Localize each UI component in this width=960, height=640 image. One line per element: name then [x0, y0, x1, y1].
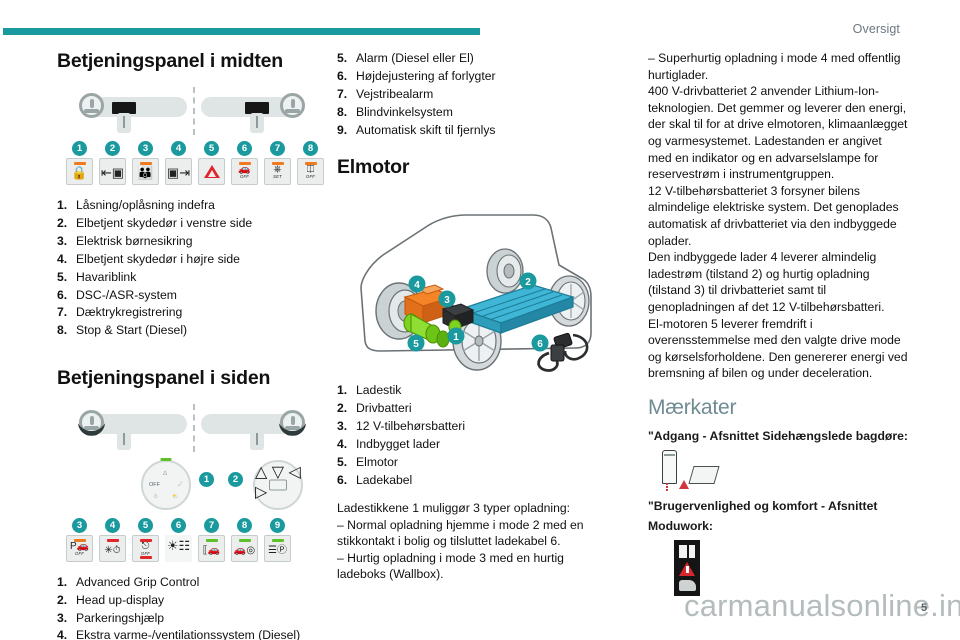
paragraph-line: reservestrøm i instrumentgruppen.: [648, 166, 938, 183]
callout-3: 3: [138, 141, 153, 156]
callout-5: 5: [138, 518, 153, 533]
svg-text:6: 6: [537, 339, 543, 350]
button-row: 🔒 ⇤▣ 👪 ▣⇥ 🚗OFF ⎈SET: [63, 158, 327, 185]
side-panel-knob-row: △ OFF ☄ ☃ ⛅ 1 2 △ ▽ ◁ ▷: [63, 458, 327, 514]
paragraph-line: ladestrøm (tilstand 2) og hurtig opladni…: [648, 266, 938, 283]
list-item-text: DSC-/ASR-system: [76, 287, 327, 303]
list-item-text: Head up-display: [76, 592, 327, 608]
list-item: 5.Havariblink: [57, 269, 327, 285]
paragraph-line: 12 V-tilbehørsbatteriet 3 forsyner bilen…: [648, 183, 938, 200]
blind-spot-button[interactable]: 🚗◎: [231, 535, 258, 562]
callout-4: 4: [105, 518, 120, 533]
list-item-text: 12 V-tilbehørsbatteri: [356, 418, 607, 434]
led-indicator: [161, 458, 172, 461]
list-item: 2.Drivbatteri: [337, 400, 607, 416]
section-heading-side-panel: Betjeningspanel i siden: [57, 367, 327, 390]
dashboard-rhd: [201, 410, 311, 444]
elmotor-legend-list: 1.Ladestik 2.Drivbatteri 3.12 V-tilbehør…: [337, 382, 607, 488]
sticker-caption-moduwork-line1: "Brugervenlighed og komfort - Afsnittet: [648, 498, 938, 514]
paragraph-line: oplader.: [648, 233, 938, 250]
list-item-number: 2.: [57, 215, 76, 231]
led-indicator: [305, 162, 317, 165]
gas-strut-sticker-icon: [662, 450, 677, 484]
paragraph-line: Den indbyggede lader 4 leverer almindeli…: [648, 249, 938, 266]
list-item-text: Indbygget lader: [356, 436, 607, 452]
left-column: Betjeningspanel i midten 1 2 3: [57, 50, 327, 640]
list-item-text: Blindvinkelsystem: [356, 104, 607, 120]
list-item: 3.Elektrisk børnesikring: [57, 233, 327, 249]
sticker-group-access: [662, 450, 938, 484]
dsc-asr-off-icon: 🚗OFF: [238, 165, 250, 179]
list-item: 4.Ekstra varme-/ventilationssystem (Dies…: [57, 627, 327, 640]
lane-alert-icon: ⟦🚗: [203, 546, 220, 556]
callout-4: 4: [171, 141, 186, 156]
led-indicator: [272, 162, 284, 165]
right-sliding-door-icon: ▣⇥: [167, 166, 190, 179]
stop-start-button[interactable]: ⎅OFF: [297, 158, 324, 185]
list-item: 4.Elbetjent skydedør i højre side: [57, 251, 327, 267]
warning-triangle-icon: [679, 480, 689, 489]
paragraph-line: automatisk af drivbatteriet via den indb…: [648, 216, 938, 233]
paragraph-line: og varmesystemet. Ladestanden er angivet: [648, 133, 938, 150]
list-item: 3.Parkeringshjælp: [57, 610, 327, 626]
paragraph-line: genopladningen af det 12 V-tilbehørsbatt…: [648, 299, 938, 316]
callout-row: 1 2 3 4 5 6 7 8: [63, 141, 327, 156]
dashboard-lhd: [77, 410, 187, 444]
side-panel-button-strip: 3 4 5 6 7 8 9 P🚗OFF ✳⏱ ⎋OFF: [63, 518, 327, 562]
list-item: 8.Stop & Start (Diesel): [57, 322, 327, 338]
list-item-number: 8.: [337, 104, 356, 120]
paragraph-line: overensstemmelse med den valgte drive mo…: [648, 332, 938, 349]
paragraph-line: bremsning af bilen og under deceleration…: [648, 365, 938, 382]
list-item-number: 6.: [337, 472, 356, 488]
paragraph-line: ladeboks (Wallbox).: [337, 566, 607, 583]
auxiliary-heating-timer-icon: ✳⏱: [104, 546, 120, 556]
list-item: 7.Dæktrykregistrering: [57, 304, 327, 320]
list-item-text: Vejstribealarm: [356, 86, 607, 102]
auxiliary-heating-button[interactable]: ✳⏱: [99, 535, 126, 562]
paragraph-line: stikkontakt i bolig og tilsluttet ladeka…: [337, 533, 607, 550]
paragraph-line: – Normal opladning hjemme i mode 2 med e…: [337, 517, 607, 534]
list-item: 8.Blindvinkelsystem: [337, 104, 607, 120]
hazard-warning-button[interactable]: [198, 158, 225, 185]
list-item: 6.Højdejustering af forlygter: [337, 68, 607, 84]
list-item-text: Elektrisk børnesikring: [76, 233, 327, 249]
header-rule: [3, 28, 480, 35]
svg-text:1: 1: [453, 332, 459, 343]
svg-text:4: 4: [414, 280, 420, 291]
list-item-number: 7.: [337, 86, 356, 102]
list-item-number: 2.: [57, 592, 76, 608]
paragraph-line: og kørselsforholdene. Den genererer ener…: [648, 349, 938, 366]
list-item-text: Advanced Grip Control: [76, 574, 327, 590]
list-item-text: Ekstra varme-/ventilationssystem (Diesel…: [76, 627, 327, 640]
sticker-caption-moduwork-line2: Moduwork:: [648, 518, 938, 534]
list-item-text: Låsning/oplåsning indefra: [76, 197, 327, 213]
callout-7: 7: [270, 141, 285, 156]
list-item-text: Alarm (Diesel eller El): [356, 50, 607, 66]
dimmer-wheel[interactable]: ☀☷: [165, 535, 192, 562]
list-item: 9.Automatisk skift til fjernlys: [337, 122, 607, 138]
dashboard-lhd: [77, 93, 187, 127]
list-item-number: 8.: [57, 322, 76, 338]
battery-description-paragraph: – Superhurtig opladning i mode 4 med off…: [648, 50, 938, 382]
list-item-text: Elbetjent skydedør i højre side: [76, 251, 327, 267]
list-item: 1.Låsning/oplåsning indefra: [57, 197, 327, 213]
list-item-number: 2.: [337, 400, 356, 416]
hazard-warning-icon: [204, 165, 220, 178]
paragraph-line: (tilstand 3) til drivbatteriet samt til: [648, 282, 938, 299]
side-console-icon: [117, 430, 131, 450]
ev-powertrain-illustration: 1 2 3 4 5 6: [337, 193, 605, 378]
list-item-number: 3.: [337, 418, 356, 434]
list-item-text: Højdejustering af forlygter: [356, 68, 607, 84]
callout-3: 3: [72, 518, 87, 533]
list-item-number: 5.: [337, 50, 356, 66]
left-sliding-door-icon: ⇤▣: [101, 166, 124, 179]
stop-start-off-icon: ⎅OFF: [306, 165, 315, 179]
center-console-icon: [117, 113, 131, 133]
svg-text:3: 3: [444, 295, 450, 306]
list-item-number: 4.: [57, 627, 76, 640]
list-item-number: 5.: [337, 454, 356, 470]
dashboard-illustration-side: [69, 404, 319, 452]
list-item-number: 1.: [57, 197, 76, 213]
list-item-number: 6.: [57, 287, 76, 303]
callout-8: 8: [237, 518, 252, 533]
list-item: 6.DSC-/ASR-system: [57, 287, 327, 303]
paragraph-line: teknologien. Det gemmer og leverer den e…: [648, 100, 938, 117]
park-assist-icon: P🚗OFF: [70, 542, 89, 556]
tyre-pressure-set-icon: ⎈SET: [273, 165, 282, 179]
lock-button[interactable]: 🔒: [66, 158, 93, 185]
section-heading-elmotor: Elmotor: [337, 156, 607, 179]
site-watermark: carmanualsonline.info: [684, 588, 960, 624]
list-item: 3.12 V-tilbehørsbatteri: [337, 418, 607, 434]
led-indicator: [272, 539, 284, 542]
lane-alert-button[interactable]: ⟦🚗: [198, 535, 225, 562]
auto-main-beam-button[interactable]: ☰Ⓟ: [264, 535, 291, 562]
led-indicator: [140, 162, 152, 165]
list-item-text: Automatisk skift til fjernlys: [356, 122, 607, 138]
sticker-caption-access: "Adgang - Afsnittet Sidehængslede bagdør…: [648, 428, 938, 444]
park-assist-button[interactable]: P🚗OFF: [66, 535, 93, 562]
list-item-number: 3.: [57, 610, 76, 626]
led-indicator: [140, 539, 152, 542]
right-sliding-door-button[interactable]: ▣⇥: [165, 158, 192, 185]
list-item-number: 6.: [337, 68, 356, 84]
callout-6: 6: [171, 518, 186, 533]
head-up-display-pad[interactable]: △ ▽ ◁ ▷: [253, 460, 303, 510]
paragraph-line: – Hurtig opladning i mode 3 med en hurti…: [337, 550, 607, 567]
dsc-asr-button[interactable]: 🚗OFF: [231, 158, 258, 185]
list-item: 1.Advanced Grip Control: [57, 574, 327, 590]
lock-icon: 🔒: [71, 166, 87, 179]
center-console-icon: [250, 113, 264, 133]
manual-page: Oversigt Betjeningspanel i midten 1: [0, 0, 960, 640]
list-item-number: 4.: [337, 436, 356, 452]
dashboard-illustration-center: [69, 87, 319, 135]
callout-5: 5: [204, 141, 219, 156]
callout-8: 8: [303, 141, 318, 156]
roof-light-button[interactable]: ⎋OFF: [132, 535, 159, 562]
steering-wheel-icon: [79, 93, 104, 118]
callout-1: 1: [199, 472, 214, 487]
callout-6: 6: [237, 141, 252, 156]
section-heading-center-panel: Betjeningspanel i midten: [57, 50, 327, 73]
paragraph-line: hurtiglader.: [648, 67, 938, 84]
list-item-text: Drivbatteri: [356, 400, 607, 416]
led-indicator: [74, 539, 86, 542]
page-number: 5: [921, 602, 927, 614]
list-item-text: Havariblink: [76, 269, 327, 285]
list-item-text: Dæktrykregistrering: [76, 304, 327, 320]
paragraph-line: – Superhurtig opladning i mode 4 med off…: [648, 50, 938, 67]
list-item-number: 1.: [57, 574, 76, 590]
led-indicator: [239, 539, 251, 542]
paragraph-line: Ladestikkene 1 muliggør 3 typer opladnin…: [337, 500, 607, 517]
led-indicator: [206, 539, 218, 542]
child-lock-button[interactable]: 👪: [132, 158, 159, 185]
paragraph-line: El-motoren 5 leverer fremdrift i: [648, 316, 938, 333]
right-column: – Superhurtig opladning i mode 4 med off…: [648, 50, 938, 596]
child-lock-icon: 👪: [137, 166, 153, 179]
list-item-number: 3.: [57, 233, 76, 249]
svg-text:2: 2: [525, 277, 531, 288]
list-item-number: 7.: [57, 304, 76, 320]
wheel-rear-right: [487, 249, 523, 293]
led-indicator-bottom: [140, 556, 152, 559]
steering-wheel-icon: [280, 93, 305, 118]
blind-spot-icon: 🚗◎: [234, 546, 255, 556]
manual-book-icon: [679, 545, 695, 558]
center-panel-button-strip: 1 2 3 4 5 6 7 8 🔒 ⇤▣ 👪 ▣⇥: [63, 141, 327, 185]
tyre-pressure-button[interactable]: ⎈SET: [264, 158, 291, 185]
led-indicator: [239, 162, 251, 165]
list-item-text: Ladekabel: [356, 472, 607, 488]
paragraph-line: der skal til for at drive elmotoren, kli…: [648, 116, 938, 133]
dash-divider: [193, 87, 195, 135]
list-item-number: 5.: [57, 269, 76, 285]
callout-7: 7: [204, 518, 219, 533]
middle-column: 5.Alarm (Diesel eller El) 6.Højdejusteri…: [337, 50, 607, 583]
list-item-number: 9.: [337, 122, 356, 138]
paragraph-line: 400 V-drivbatteriet 2 anvender Lithium-I…: [648, 83, 938, 100]
svg-text:5: 5: [413, 339, 419, 350]
callout-row: 3 4 5 6 7 8 9: [63, 518, 327, 533]
list-item-text: Ladestik: [356, 382, 607, 398]
page-header-title: Oversigt: [853, 22, 900, 36]
center-panel-legend-list: 1.Låsning/oplåsning indefra 2.Elbetjent …: [57, 197, 327, 339]
button-row: P🚗OFF ✳⏱ ⎋OFF ☀☷ ⟦🚗 🚗◎: [63, 535, 327, 562]
list-item: 5.Elmotor: [337, 454, 607, 470]
list-item-text: Elmotor: [356, 454, 607, 470]
dashboard-rhd: [201, 93, 311, 127]
callout-9: 9: [270, 518, 285, 533]
list-item: 1.Ladestik: [337, 382, 607, 398]
side-panel-legend-list: 1.Advanced Grip Control 2.Head up-displa…: [57, 574, 327, 640]
list-item: 5.Alarm (Diesel eller El): [337, 50, 607, 66]
list-item-text: Parkeringshjælp: [76, 610, 327, 626]
list-item: 7.Vejstribealarm: [337, 86, 607, 102]
warning-triangle-icon: [679, 562, 695, 576]
side-console-icon: [250, 430, 264, 450]
section-heading-maerkater: Mærkater: [648, 396, 938, 420]
continued-legend-list: 5.Alarm (Diesel eller El) 6.Højdejusteri…: [337, 50, 607, 138]
paragraph-line: almindelige elektriske system. Det genop…: [648, 199, 938, 216]
list-item-number: 4.: [57, 251, 76, 267]
dash-divider: [193, 404, 195, 452]
led-indicator: [107, 539, 119, 542]
callout-2: 2: [228, 472, 243, 487]
list-item-number: 1.: [337, 382, 356, 398]
list-item-text: Elbetjent skydedør i venstre side: [76, 215, 327, 231]
elmotor-paragraph: Ladestikkene 1 muliggør 3 typer opladnin…: [337, 500, 607, 583]
list-item: 2.Elbetjent skydedør i venstre side: [57, 215, 327, 231]
callout-2: 2: [105, 141, 120, 156]
list-item-text: Stop & Start (Diesel): [76, 322, 327, 338]
list-item: 2.Head up-display: [57, 592, 327, 608]
paragraph-line: med en indikator og en advarselslampe fo…: [648, 150, 938, 167]
ev-diagram-svg: 1 2 3 4 5 6: [337, 193, 605, 378]
auto-main-beam-icon: ☰Ⓟ: [268, 546, 287, 556]
led-indicator: [74, 162, 86, 165]
hand-caution-sticker-icon: [688, 466, 719, 484]
left-sliding-door-button[interactable]: ⇤▣: [99, 158, 126, 185]
grip-control-knob[interactable]: △ OFF ☄ ☃ ⛅: [141, 460, 191, 510]
dimmer-wheel-icon: ☀☷: [167, 539, 190, 552]
list-item: 4.Indbygget lader: [337, 436, 607, 452]
roof-light-icon: ⎋OFF: [141, 542, 150, 556]
list-item: 6.Ladekabel: [337, 472, 607, 488]
callout-1: 1: [72, 141, 87, 156]
